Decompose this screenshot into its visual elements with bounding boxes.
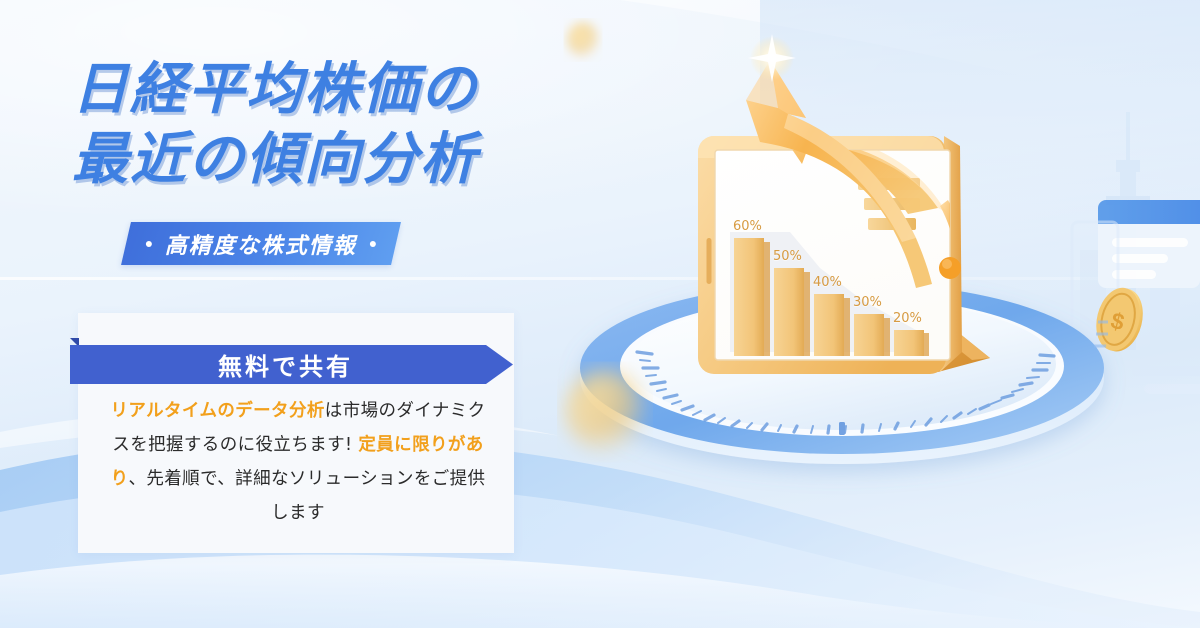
headline-line-1: 日経平均株価の (72, 57, 478, 122)
backdrop-document-card (1098, 200, 1200, 288)
coin-left-blurred (565, 370, 645, 454)
bar-label-4: 20% (893, 311, 922, 326)
sparkle-icon (748, 34, 796, 82)
bullet-dot-right-icon (370, 241, 376, 247)
coin-top-small (567, 22, 599, 58)
headline-line-2: 最近の傾向分析 (72, 125, 478, 195)
bullet-dot-left-icon (146, 241, 152, 247)
page-title: 日経平均株価の最近の傾向分析 (72, 55, 478, 195)
bar-label-2: 40% (813, 275, 842, 290)
tagline-badge-label: 高精度な株式情報 (165, 228, 357, 260)
bar-label-3: 30% (853, 295, 882, 310)
body-segment-plain-2: 、先着順で、詳細なソリューションをご提供します (128, 469, 485, 523)
body-segment-highlight-1: リアルタイムのデータ分析 (110, 401, 324, 421)
hero-illustration: $ 60% 50% 40% 30% 20% (520, 0, 1200, 628)
promo-banner: 日経平均株価の最近の傾向分析 高精度な株式情報 無料で共有 リアルタイムのデータ… (0, 0, 1200, 628)
ribbon-banner: 無料で共有 (70, 338, 513, 384)
bar-label-0: 60% (733, 219, 762, 234)
promo-card-body: リアルタイムのデータ分析は市場のダイナミクスを把握するのに役立ちます! 定員に限… (103, 394, 493, 530)
tagline-badge: 高精度な株式情報 (126, 222, 396, 265)
hero-illustration-graphic: $ (520, 0, 1200, 628)
backdrop-document-card-secondary (1132, 366, 1200, 394)
ribbon-label: 無料で共有 (218, 347, 365, 382)
bar-label-1: 50% (773, 249, 802, 264)
